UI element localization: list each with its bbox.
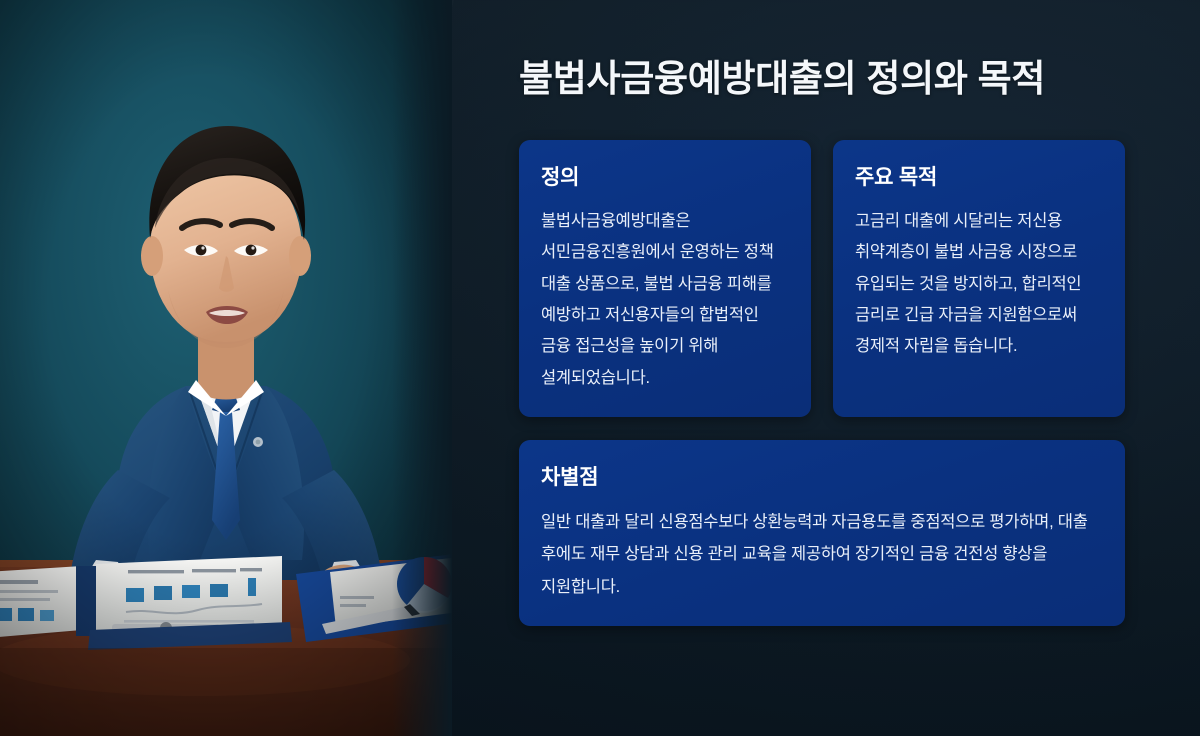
card-definition-title: 정의 bbox=[541, 161, 789, 191]
cards-grid: 정의 불법사금융예방대출은 서민금융진흥원에서 운영하는 정책 대출 상품으로,… bbox=[519, 140, 1125, 626]
card-purpose: 주요 목적 고금리 대출에 시달리는 저신용 취약계층이 불법 사금융 시장으로… bbox=[833, 140, 1125, 417]
card-definition-body: 불법사금융예방대출은 서민금융진흥원에서 운영하는 정책 대출 상품으로, 불법… bbox=[541, 206, 789, 394]
card-definition: 정의 불법사금융예방대출은 서민금융진흥원에서 운영하는 정책 대출 상품으로,… bbox=[519, 140, 811, 417]
card-purpose-body: 고금리 대출에 시달리는 저신용 취약계층이 불법 사금융 시장으로 유입되는 … bbox=[855, 206, 1103, 363]
presenter-photo-illustration bbox=[0, 0, 452, 736]
desk-report-left bbox=[0, 566, 82, 638]
card-purpose-title: 주요 목적 bbox=[855, 161, 1103, 191]
slide-root: 불법사금융예방대출의 정의와 목적 정의 불법사금융예방대출은 서민금융진흥원에… bbox=[0, 0, 1200, 736]
presenter-photo bbox=[0, 0, 452, 736]
content-pane: 불법사금융예방대출의 정의와 목적 정의 불법사금융예방대출은 서민금융진흥원에… bbox=[452, 0, 1200, 736]
card-differentiator-body: 일반 대출과 달리 신용점수보다 상환능력과 자금용도를 중점적으로 평가하며,… bbox=[541, 506, 1103, 603]
card-differentiator: 차별점 일반 대출과 달리 신용점수보다 상환능력과 자금용도를 중점적으로 평… bbox=[519, 440, 1125, 626]
card-differentiator-title: 차별점 bbox=[541, 461, 1103, 491]
page-title: 불법사금융예방대출의 정의와 목적 bbox=[519, 55, 1128, 103]
